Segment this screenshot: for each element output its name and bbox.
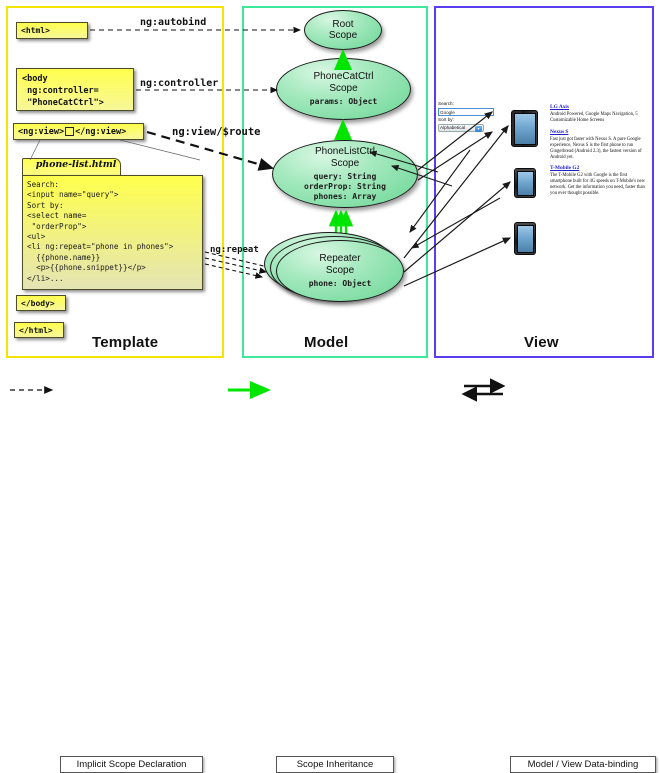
ng-view-close: </ng:view>	[75, 127, 126, 137]
list-item: Nexus S Fast just got faster with Nexus …	[550, 129, 650, 161]
note-title: phone-list.html	[28, 159, 124, 170]
ng-view-tag: <ng:view> </ng:view>	[13, 123, 144, 140]
html-open-tag: <html>	[16, 22, 88, 39]
diagram-canvas: <html> <body ng:controller= "PhoneCatCtr…	[0, 0, 660, 405]
search-label: Search:	[438, 101, 496, 107]
model-column-label: Model	[304, 334, 348, 351]
legend-implicit-scope-declaration: Implicit Scope Declaration	[60, 756, 203, 773]
phone-shell	[511, 110, 538, 147]
phone-thumbnail-t-mobile-g2	[514, 222, 536, 255]
list-item: T-Mobile G2 The T-Mobile G2 with Google …	[550, 165, 650, 197]
phone-name-link[interactable]: LG Axis	[550, 104, 650, 110]
connector-label-route: ng:view/$route	[172, 126, 261, 138]
connector-label-autobind: ng:autobind	[140, 17, 206, 28]
view-column-label: View	[524, 334, 559, 351]
phone-name-link[interactable]: T-Mobile G2	[550, 165, 650, 171]
root-scope-label: RootScope	[329, 19, 357, 42]
legend-model-view-data-binding: Model / View Data-binding	[510, 756, 656, 773]
phone-snippet: Android Powered, Google Maps Navigation,…	[550, 112, 650, 124]
phone-screen	[517, 171, 534, 196]
connector-label-controller: ng:controller	[140, 78, 218, 89]
phonelistctrl-scope-props: query: String orderProp: String phones: …	[304, 172, 386, 202]
phonelistctrl-scope-label: PhoneListCtrlScope	[315, 146, 375, 169]
phone-screen	[514, 113, 536, 145]
phonecatctrl-scope-props: params: Object	[310, 97, 377, 107]
view-search-form: Search: Google Sort by: Alphabetical ▾	[438, 101, 496, 132]
phone-name-link[interactable]: Nexus S	[550, 129, 650, 135]
legend: Implicit Scope Declaration Scope Inherit…	[0, 374, 660, 404]
phonecatctrl-scope-node: PhoneCatCtrlScope params: Object	[276, 58, 411, 120]
search-input[interactable]: Google	[438, 108, 494, 116]
repeater-scope-node: RepeaterScope phone: Object	[276, 240, 404, 302]
connector-label-repeat: ng:repeat	[210, 245, 259, 255]
phone-snippet: The T-Mobile G2 with Google is the first…	[550, 173, 650, 197]
html-close-tag: </html>	[14, 322, 64, 338]
body-close-tag: </body>	[16, 295, 66, 311]
phonelistctrl-scope-node: PhoneListCtrlScope query: String orderPr…	[272, 140, 418, 208]
sort-select[interactable]: Alphabetical ▾	[438, 124, 484, 133]
ng-view-placeholder-icon	[65, 127, 74, 136]
phone-thumbnail-nexus-s	[514, 168, 536, 198]
body-open-tag: <body ng:controller= "PhoneCatCtrl">	[16, 68, 134, 111]
phone-list-template-note: phone-list.html Search: <input name="que…	[22, 158, 203, 290]
note-code: Search: <input name="query"> Sort by: <s…	[22, 175, 203, 290]
view-phone-list: LG Axis Android Powered, Google Maps Nav…	[550, 104, 650, 202]
phone-shell	[514, 168, 536, 198]
phone-snippet: Fast just got faster with Nexus S. A pur…	[550, 137, 650, 161]
sort-label: Sort by:	[438, 117, 496, 123]
repeater-scope-label: RepeaterScope	[319, 253, 360, 276]
ng-view-open: <ng:view>	[18, 127, 64, 137]
sort-select-value: Alphabetical	[440, 124, 465, 132]
legend-scope-inheritance: Scope Inheritance	[276, 756, 394, 773]
phone-screen	[517, 225, 534, 253]
root-scope-node: RootScope	[304, 10, 382, 50]
template-column-label: Template	[92, 334, 158, 351]
chevron-down-icon: ▾	[475, 126, 482, 133]
repeater-scope-props: phone: Object	[309, 279, 372, 289]
phone-thumbnail-lg-axis	[511, 110, 538, 147]
phonecatctrl-scope-label: PhoneCatCtrlScope	[313, 71, 373, 94]
list-item: LG Axis Android Powered, Google Maps Nav…	[550, 104, 650, 124]
phone-shell	[514, 222, 536, 255]
